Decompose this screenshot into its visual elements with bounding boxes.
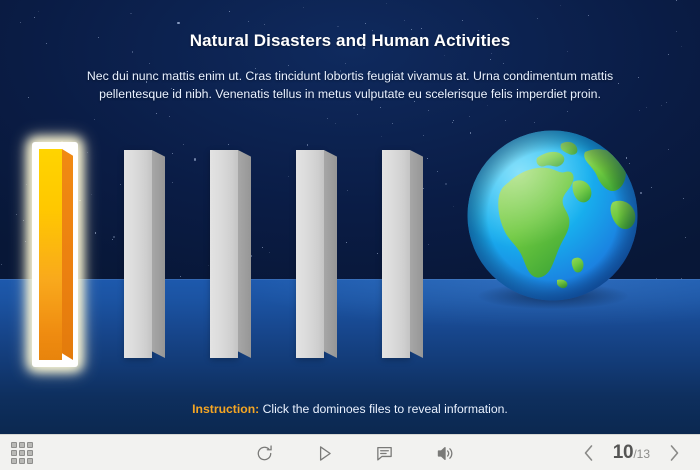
domino-1-front [39, 149, 62, 360]
comment-icon[interactable] [373, 441, 397, 465]
replay-icon[interactable] [253, 441, 277, 465]
instruction-text: Click the dominoes files to reveal infor… [259, 402, 508, 416]
chevron-left-icon[interactable] [579, 441, 599, 465]
domino-2-side [152, 150, 165, 358]
earth-globe [465, 128, 640, 303]
volume-icon[interactable] [433, 441, 457, 465]
instruction-label: Instruction: [192, 402, 259, 416]
player-navbar: 10 /13 [0, 434, 700, 470]
domino-2-front [124, 150, 152, 358]
domino-4-front [296, 150, 324, 358]
grid-icon[interactable] [11, 442, 33, 464]
total-pages: /13 [633, 447, 650, 461]
body-paragraph: Nec dui nunc mattis enim ut. Cras tincid… [60, 67, 640, 103]
domino-1-side [62, 149, 73, 360]
slide-canvas: Natural Disasters and Human Activities N… [0, 0, 700, 470]
domino-5[interactable] [382, 150, 423, 358]
domino-4-side [324, 150, 337, 358]
domino-5-front [382, 150, 410, 358]
domino-5-side [410, 150, 423, 358]
domino-1[interactable] [37, 147, 73, 362]
page-title: Natural Disasters and Human Activities [0, 31, 700, 51]
page-indicator: 10 /13 [613, 442, 650, 464]
domino-3-side [238, 150, 251, 358]
current-page: 10 [613, 442, 634, 464]
domino-3-front [210, 150, 238, 358]
domino-3[interactable] [210, 150, 251, 358]
instruction-line: Instruction: Click the dominoes files to… [0, 402, 700, 416]
navbar-left [0, 442, 131, 464]
navbar-pager: 10 /13 [579, 441, 700, 465]
navbar-controls [131, 441, 579, 465]
play-icon[interactable] [313, 441, 337, 465]
domino-2[interactable] [124, 150, 165, 358]
chevron-right-icon[interactable] [664, 441, 684, 465]
domino-4[interactable] [296, 150, 337, 358]
